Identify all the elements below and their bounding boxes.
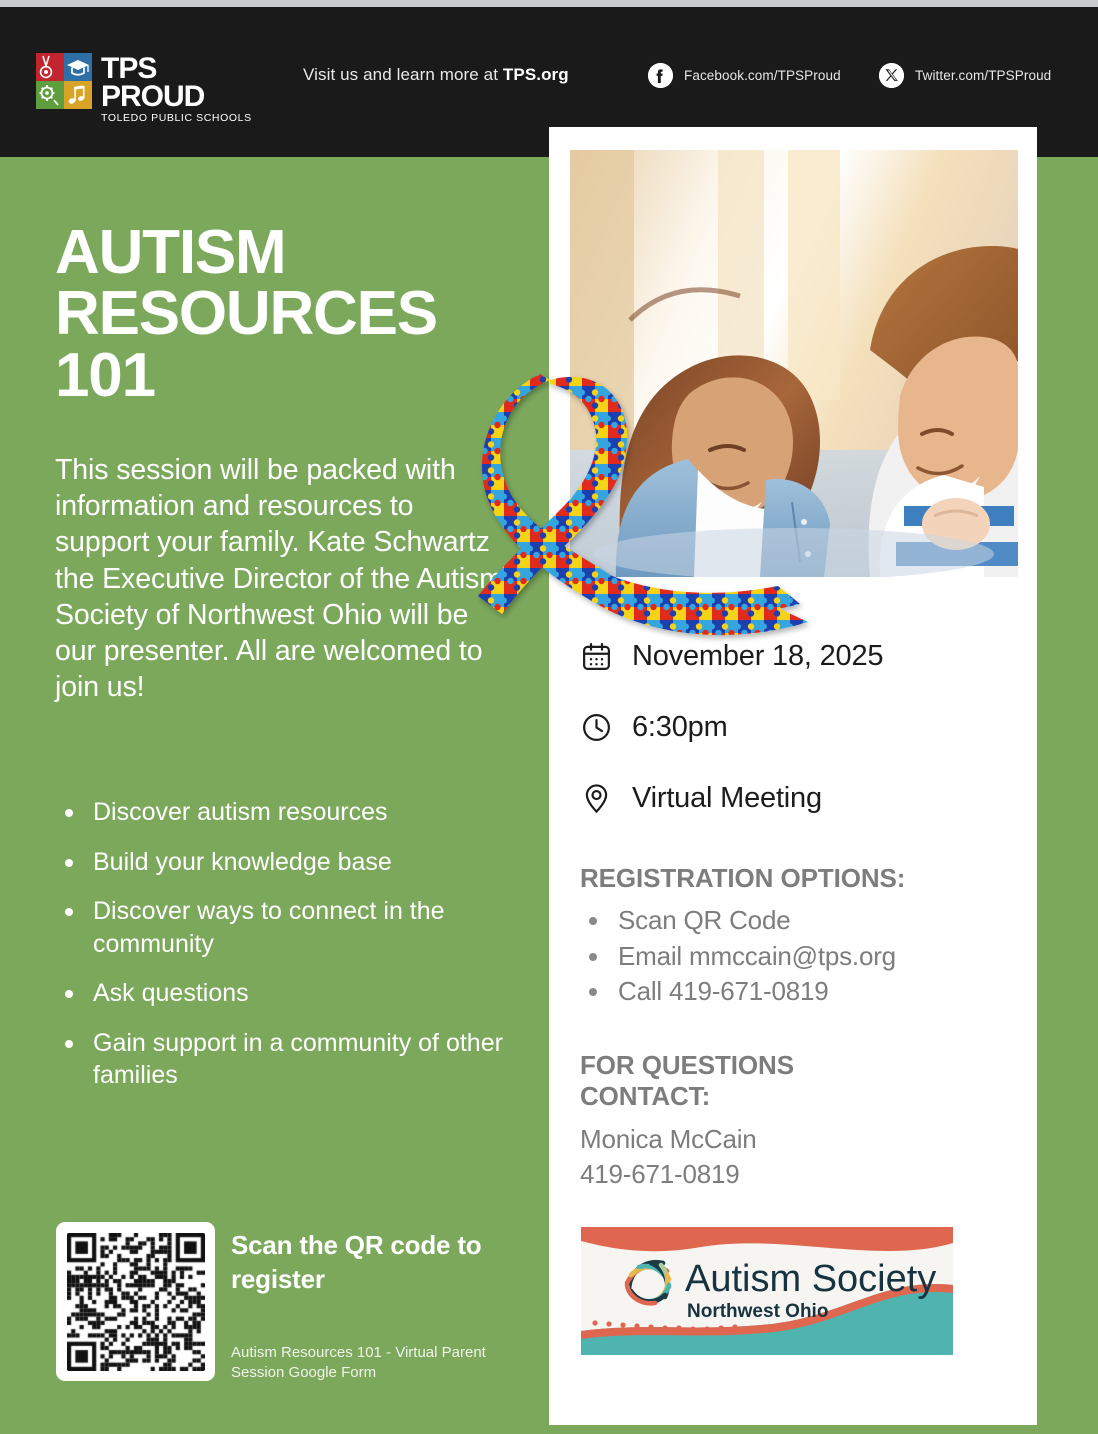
qr-instruction-title: Scan the QR code to register xyxy=(231,1228,521,1297)
gear-person-icon xyxy=(36,81,64,109)
mother-and-child-photo xyxy=(570,150,1018,577)
contact-phone: 419-671-0819 xyxy=(580,1159,740,1190)
autism-society-logo: Autism Society Northwest Ohio xyxy=(581,1227,953,1355)
list-item: Ask questions xyxy=(55,977,525,1010)
qr-form-caption: Autism Resources 101 - Virtual Parent Se… xyxy=(231,1343,521,1383)
visit-prefix: Visit us and learn more at xyxy=(303,65,503,84)
lead-paragraph: This session will be packed with informa… xyxy=(55,452,505,705)
tps-proud-logo[interactable]: TPS PROUD TOLEDO PUBLIC SCHOOLS xyxy=(36,53,252,124)
visit-us-text: Visit us and learn more at TPS.org xyxy=(303,65,569,85)
list-item: Gain support in a community of other fam… xyxy=(55,1027,525,1092)
registration-options-list: Scan QR Code Email mmccain@tps.org Call … xyxy=(580,903,896,1010)
list-item: Discover ways to connect in the communit… xyxy=(55,895,525,960)
list-item: Email mmccain@tps.org xyxy=(580,939,896,975)
visit-url: TPS.org xyxy=(503,65,569,84)
list-item: Call 419-671-0819 xyxy=(580,974,896,1010)
questions-heading: FOR QUESTIONS CONTACT: xyxy=(580,1050,910,1112)
music-notes-icon xyxy=(64,81,92,109)
event-location: Virtual Meeting xyxy=(580,782,822,815)
tps-logo-wordmark: TPS PROUD TOLEDO PUBLIC SCHOOLS xyxy=(101,53,252,124)
facebook-icon xyxy=(648,63,673,88)
graduation-cap-icon xyxy=(64,53,92,81)
registration-heading: REGISTRATION OPTIONS: xyxy=(580,863,905,894)
contact-name: Monica McCain xyxy=(580,1124,757,1155)
list-item: Build your knowledge base xyxy=(55,846,525,879)
twitter-label: Twitter.com/TPSProud xyxy=(915,68,1051,83)
facebook-label: Facebook.com/TPSProud xyxy=(684,68,841,83)
svg-text:Autism Society: Autism Society xyxy=(685,1258,936,1300)
qr-code-icon[interactable] xyxy=(56,1222,215,1381)
page-title: AUTISM RESOURCES 101 xyxy=(55,222,525,406)
list-item: Scan QR Code xyxy=(580,903,896,939)
twitter-link[interactable]: Twitter.com/TPSProud xyxy=(879,63,1051,88)
medal-icon xyxy=(36,53,64,81)
clock-icon xyxy=(580,711,613,744)
benefits-list: Discover autism resources Build your kno… xyxy=(55,796,525,1109)
tps-logo-mark xyxy=(36,53,92,109)
facebook-link[interactable]: Facebook.com/TPSProud xyxy=(648,63,841,88)
svg-text:Northwest Ohio: Northwest Ohio xyxy=(687,1301,828,1322)
event-time-text: 6:30pm xyxy=(632,711,728,744)
x-twitter-icon xyxy=(879,63,904,88)
logo-line-2: PROUD xyxy=(101,82,252,112)
event-time: 6:30pm xyxy=(580,711,728,744)
window-top-strip xyxy=(0,0,1098,7)
event-date-text: November 18, 2025 xyxy=(632,640,883,673)
logo-tagline: TOLEDO PUBLIC SCHOOLS xyxy=(101,113,252,124)
calendar-icon xyxy=(580,640,613,673)
location-pin-icon xyxy=(580,782,613,815)
list-item: Discover autism resources xyxy=(55,796,525,829)
event-date: November 18, 2025 xyxy=(580,640,883,673)
event-location-text: Virtual Meeting xyxy=(632,782,822,815)
